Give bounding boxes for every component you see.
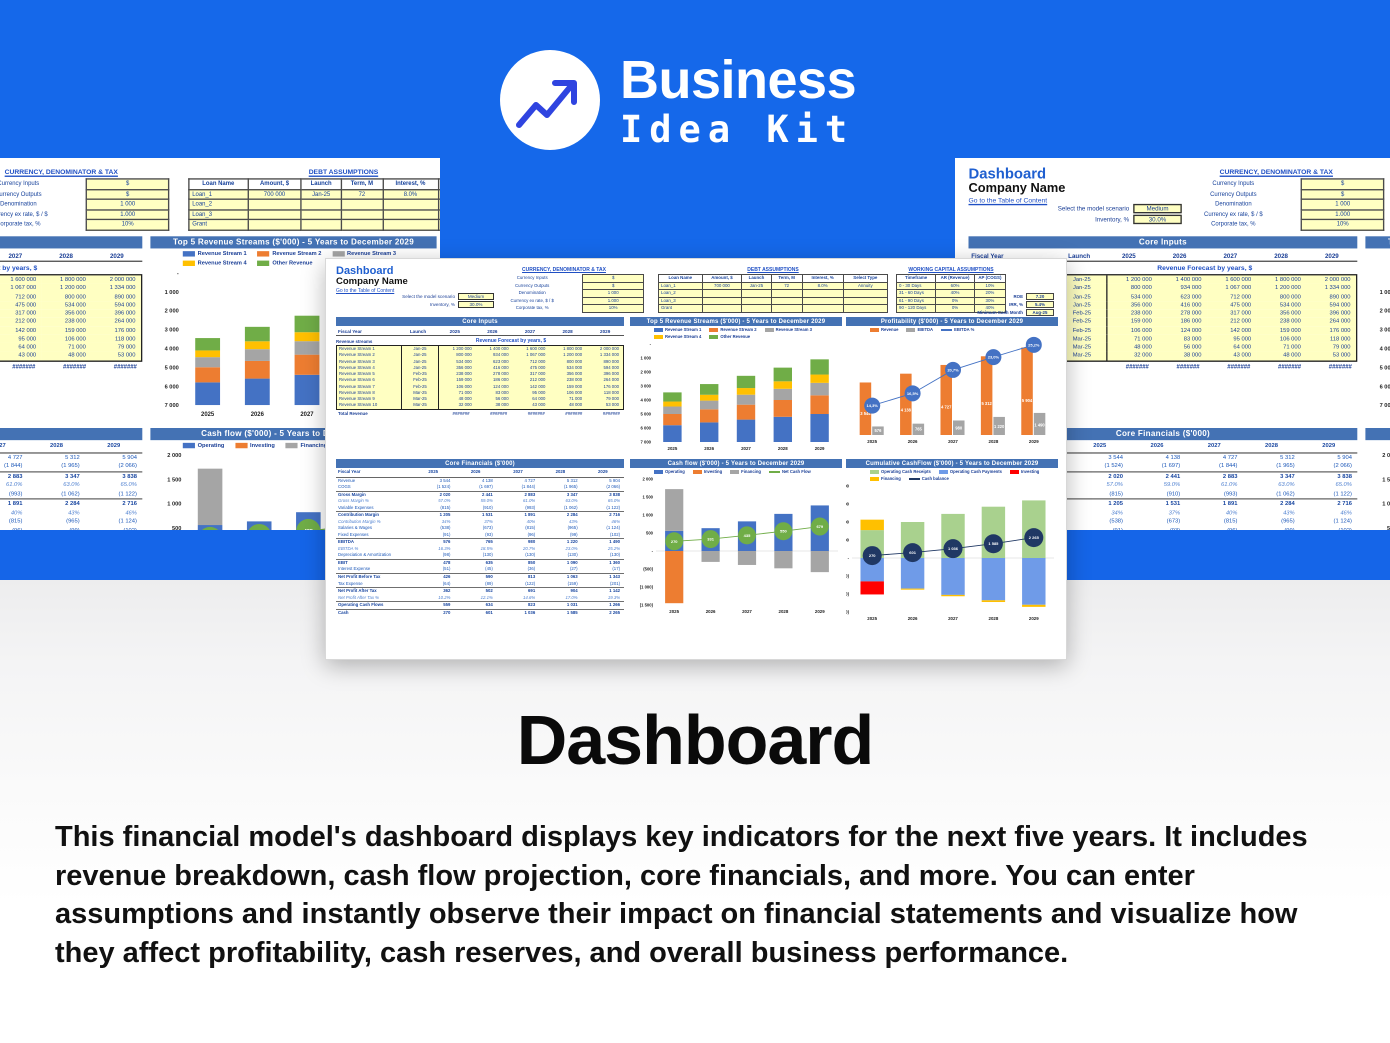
table-row[interactable]: Denomination1 000: [0, 199, 169, 209]
table-cell[interactable]: [438, 210, 440, 220]
stream-value[interactable]: 934 000: [1157, 284, 1207, 292]
stream-value[interactable]: 83 000: [1157, 335, 1207, 343]
table-row[interactable]: Revenue Stream 2Jan-25800 000934 0001 06…: [0, 284, 141, 292]
stream-launch[interactable]: Mar-25: [402, 402, 439, 408]
stream-value[interactable]: 38 000: [1157, 352, 1207, 360]
stream-value[interactable]: 1 600 000: [0, 275, 42, 283]
stream-value[interactable]: 396 000: [1306, 309, 1356, 317]
revenue-forecast-table[interactable]: Revenue Stream 1Jan-251 200 0001 400 000…: [336, 345, 624, 410]
stream-value[interactable]: 890 000: [1306, 292, 1356, 300]
stream-value[interactable]: 1 400 000: [1157, 275, 1207, 283]
svg-text:2029: 2029: [1029, 439, 1039, 444]
stream-value[interactable]: 212 000: [0, 318, 42, 326]
stream-value[interactable]: 1 200 000: [42, 284, 92, 292]
svg-text:7 000: 7 000: [641, 440, 652, 445]
stream-value[interactable]: 1 800 000: [1257, 275, 1307, 283]
row-label: Corporate tax, %: [1168, 220, 1301, 230]
sheet-title: Dashboard: [969, 166, 1131, 182]
stream-value[interactable]: 48 000: [1108, 343, 1158, 351]
svg-text:1 000: 1 000: [643, 513, 654, 518]
table-cell[interactable]: Jan-25: [742, 282, 771, 290]
table-cell[interactable]: Loan_3: [659, 297, 703, 305]
svg-text:3 000: 3 000: [641, 384, 652, 389]
table-cell[interactable]: [248, 220, 302, 230]
total-value: #######: [436, 411, 474, 416]
table-cell[interactable]: 10%: [974, 282, 1005, 290]
core-financials-block: Core Financials ($'000)Fiscal Year202520…: [336, 459, 624, 616]
svg-text:2 000: 2 000: [1382, 453, 1390, 459]
stream-value[interactable]: 124 000: [1157, 326, 1207, 334]
stream-value[interactable]: 1 067 000: [0, 284, 42, 292]
chart-title-top5-revenue-streams: Top 5 Revenue Streams ($'000) - 5 Years …: [1365, 236, 1390, 248]
table-cell[interactable]: Loan_1: [189, 189, 248, 199]
table-cell[interactable]: [341, 220, 383, 230]
table-row[interactable]: Currency Inputs$: [484, 275, 644, 283]
currency-denominator-tax-table[interactable]: Currency Inputs$Currency Outputs$Denomin…: [0, 178, 169, 231]
core-inputs-band: Core Inputs: [0, 236, 142, 248]
table-row[interactable]: Grant: [659, 305, 888, 313]
svg-text:331: 331: [707, 537, 714, 542]
stream-value[interactable]: 2 000 000: [91, 275, 141, 283]
table-cell[interactable]: [341, 199, 383, 209]
table-cell[interactable]: [248, 199, 302, 209]
table-header-row: TimeframeAR (Revenue)AP (COGS): [897, 275, 1006, 283]
table-cell[interactable]: Grant: [659, 305, 703, 313]
table-row[interactable]: Loan_1700 000Jan-25728.0%Annuity: [189, 189, 440, 199]
currency-denominator-tax-title: CURRENCY, DENOMINATOR & TAX: [0, 169, 169, 177]
legend-color-swatch: [654, 470, 663, 474]
stream-name[interactable]: Revenue Stream 10: [337, 402, 402, 408]
table-cell[interactable]: [843, 305, 887, 313]
table-row[interactable]: Revenue Stream 10Mar-2532 00038 00043 00…: [0, 352, 141, 360]
row-value[interactable]: 1.000: [87, 210, 169, 220]
table-cell[interactable]: [771, 290, 802, 298]
table-cell[interactable]: [301, 220, 341, 230]
table-cell[interactable]: Loan_2: [189, 199, 248, 209]
stream-value[interactable]: 32 000: [1108, 352, 1158, 360]
table-row[interactable]: Revenue Stream 1Jan-251 200 0001 400 000…: [0, 275, 141, 283]
stream-value[interactable]: 317 000: [1207, 309, 1257, 317]
row-value[interactable]: $: [1302, 189, 1384, 199]
stream-value[interactable]: 356 000: [42, 309, 92, 317]
stream-value[interactable]: 238 000: [1257, 318, 1307, 326]
table-cell[interactable]: [802, 297, 843, 305]
stream-value[interactable]: 890 000: [91, 292, 141, 300]
row-value: (2 066): [1300, 462, 1357, 471]
stream-value[interactable]: 64 000: [0, 343, 42, 351]
stream-value[interactable]: 48 000: [42, 352, 92, 360]
stream-value[interactable]: 238 000: [1108, 309, 1158, 317]
table-row: Variable Expenses(815)(910)(993)(1 062)(…: [336, 505, 624, 512]
row-value: (96): [497, 532, 539, 539]
row-value: 3 838: [85, 472, 142, 481]
column-header: Timeframe: [897, 275, 936, 283]
svg-text:1 500: 1 500: [1382, 477, 1390, 483]
stream-value[interactable]: 264 000: [91, 318, 141, 326]
svg-text:2 000: 2 000: [1380, 309, 1390, 315]
stream-value[interactable]: 475 000: [1207, 301, 1257, 309]
stream-value[interactable]: 53 000: [586, 402, 623, 408]
table-cell[interactable]: 8.0%: [802, 282, 843, 290]
svg-text:6 000: 6 000: [1380, 384, 1390, 390]
currency-denominator-tax-table[interactable]: Currency Inputs$Currency Outputs$Denomin…: [1168, 178, 1384, 231]
stream-value[interactable]: 32 000: [439, 402, 476, 408]
svg-text:5 312: 5 312: [982, 401, 993, 406]
stream-value[interactable]: 594 000: [1306, 301, 1356, 309]
chart-plot-top5-revenue-streams: -1 0002 0003 0004 0005 0006 0007 0002025…: [630, 341, 842, 453]
year-header: 2026: [1154, 253, 1205, 260]
stream-value[interactable]: 416 000: [1157, 301, 1207, 309]
column-header: Launch: [742, 275, 771, 283]
table-cell[interactable]: Loan_2: [659, 290, 703, 298]
table-row[interactable]: Currency Outputs$: [1168, 189, 1383, 199]
stream-value[interactable]: 71 000: [1257, 343, 1307, 351]
table-cell[interactable]: [802, 290, 843, 298]
core-inputs-header: Fiscal YearLaunch20252026202720282029: [336, 328, 624, 336]
table-row[interactable]: Currency Inputs$: [1168, 179, 1383, 189]
year-header: 2026: [454, 469, 496, 476]
row-value[interactable]: $: [583, 282, 644, 290]
table-header-row: Loan NameAmount, $LaunchTerm, MInterest,…: [659, 275, 888, 283]
table-cell[interactable]: 8.0%: [383, 189, 438, 199]
table-row[interactable]: Revenue Stream 7Feb-25106 000124 000142 …: [0, 326, 141, 334]
stream-value[interactable]: 1 200 000: [1257, 284, 1307, 292]
row-value: (1 122): [1300, 490, 1357, 499]
row-value[interactable]: $: [1302, 179, 1384, 189]
chart-title-cash-flow: Cash flow ($'000) - 5 Years to December …: [1365, 428, 1390, 440]
total-value: #######: [586, 411, 624, 416]
debt-assumptions-table[interactable]: Loan NameAmount, $LaunchTerm, MInterest,…: [188, 178, 440, 231]
table-row[interactable]: Grant: [189, 220, 440, 230]
stream-value[interactable]: 1 600 000: [1207, 275, 1257, 283]
year-header: 2029: [1307, 253, 1358, 260]
company-name: Company Name: [969, 181, 1131, 196]
row-value: 4 727: [1186, 453, 1243, 462]
stream-value[interactable]: 95 000: [0, 335, 42, 343]
table-cell[interactable]: [742, 305, 771, 313]
stream-value[interactable]: 1 200 000: [1108, 275, 1158, 283]
stream-value[interactable]: 56 000: [1157, 343, 1207, 351]
chart-canvas-top5-revenue-streams: -1 0002 0003 0004 0005 0006 0007 0002025…: [1365, 269, 1390, 427]
row-value[interactable]: 10%: [583, 305, 644, 313]
stream-value[interactable]: 534 000: [42, 301, 92, 309]
table-row[interactable]: Corporate tax, %10%: [0, 220, 169, 230]
column-header: Term, M: [341, 179, 383, 189]
row-value[interactable]: 1 000: [1302, 199, 1384, 209]
stream-value[interactable]: 356 000: [1108, 301, 1158, 309]
row-value: (17): [582, 566, 624, 573]
row-value: (910): [1128, 490, 1185, 499]
stream-value[interactable]: 475 000: [0, 301, 42, 309]
scenario-row-label: Select the model scenario: [1058, 205, 1129, 212]
debt-assumptions: DEBT ASSUMPTIONSLoan NameAmount, $Launch…: [188, 169, 440, 231]
total-value: #######: [1307, 363, 1358, 370]
stream-value[interactable]: 1 334 000: [1306, 284, 1356, 292]
row-value[interactable]: 1.000: [1302, 210, 1384, 220]
table-cell[interactable]: 0 - 30 Days: [897, 282, 936, 290]
currency-denominator-tax-table[interactable]: Currency Inputs$Currency Outputs$Denomin…: [484, 274, 644, 313]
table-cell[interactable]: [771, 305, 802, 313]
row-value: 559: [412, 602, 454, 609]
stream-value[interactable]: 800 000: [42, 292, 92, 300]
stream-value[interactable]: 71 000: [1108, 335, 1158, 343]
stream-value[interactable]: 142 000: [0, 326, 42, 334]
legend-label: Revenue Stream 1: [665, 327, 701, 332]
svg-text:601: 601: [909, 550, 916, 555]
table-cell[interactable]: [742, 290, 771, 298]
legend-item: Other Revenue: [257, 259, 312, 266]
legend-label: Investing: [250, 442, 275, 449]
stream-value[interactable]: 48 000: [549, 402, 586, 408]
legend-label: Financing: [741, 469, 761, 474]
stream-value[interactable]: 43 000: [0, 352, 42, 360]
kpi-label: ROE: [1013, 294, 1023, 299]
row-value: 5 312: [28, 453, 85, 462]
table-cell[interactable]: [438, 199, 440, 209]
table-cell[interactable]: Loan_1: [659, 282, 703, 290]
table-row[interactable]: Corporate tax, %10%: [484, 305, 644, 313]
table-row[interactable]: 0 - 30 Days60%10%: [897, 282, 1006, 290]
table-cell[interactable]: [301, 199, 341, 209]
table-row[interactable]: Revenue Stream 5Feb-25238 000278 000317 …: [0, 309, 141, 317]
table-cell[interactable]: [301, 210, 341, 220]
table-cell[interactable]: 72: [341, 189, 383, 199]
chart-panel-cumulative-cashflow: Cumulative CashFlow ($'000) - 5 Years to…: [846, 459, 1058, 628]
legend-label: Net Cash Flow: [782, 469, 811, 474]
stream-value[interactable]: 159 000: [1108, 318, 1158, 326]
total-value: #######: [1205, 363, 1256, 370]
table-header-row: Loan NameAmount, $LaunchTerm, MInterest,…: [189, 179, 440, 189]
stream-value[interactable]: 142 000: [1207, 326, 1257, 334]
row-value: 17.0%: [539, 595, 581, 602]
table-cell[interactable]: [383, 210, 438, 220]
table-row[interactable]: Denomination1 000: [1168, 199, 1383, 209]
row-value[interactable]: 1 000: [87, 199, 169, 209]
table-cell[interactable]: [802, 305, 843, 313]
row-value: 65.0%: [1300, 481, 1357, 490]
stream-value[interactable]: 238 000: [42, 318, 92, 326]
table-row[interactable]: Loan_3: [189, 210, 440, 220]
table-row[interactable]: Currency ex rate, $ / $1.000: [484, 297, 644, 305]
row-value[interactable]: $: [87, 189, 169, 199]
legend-item: Net Cash Flow: [769, 469, 811, 474]
chart-panel-profitability: Profitability ($'000) - 5 Years to Decem…: [846, 317, 1058, 451]
row-value: (96): [1186, 526, 1243, 530]
table-row[interactable]: Revenue Stream 9Mar-2548 00056 00064 000…: [0, 343, 141, 351]
svg-text:2027: 2027: [948, 439, 958, 444]
row-value[interactable]: 10%: [87, 220, 169, 230]
column-header: Interest, %: [383, 179, 438, 189]
table-cell[interactable]: [438, 220, 440, 230]
table-row: Gross Margin %57.0%59.0%61.0%63.0%65.0%: [0, 481, 142, 490]
row-value: (993): [497, 505, 539, 512]
table-cell[interactable]: Annuity: [438, 189, 440, 199]
stream-value[interactable]: 317 000: [0, 309, 42, 317]
stream-value[interactable]: 712 000: [1207, 292, 1257, 300]
svg-text:2025: 2025: [669, 609, 679, 614]
table-cell[interactable]: 72: [771, 282, 802, 290]
stream-value[interactable]: 800 000: [1257, 292, 1307, 300]
table-row[interactable]: Loan_1700 000Jan-25728.0%Annuity: [659, 282, 888, 290]
stream-value[interactable]: 2 000 000: [1306, 275, 1356, 283]
table-cell[interactable]: [742, 297, 771, 305]
currency-denominator-tax: CURRENCY, DENOMINATOR & TAXCurrency Inpu…: [484, 267, 644, 313]
stream-value[interactable]: 1 800 000: [42, 275, 92, 283]
stream-value[interactable]: 106 000: [1108, 326, 1158, 334]
column-header: AR (Revenue): [936, 275, 975, 283]
row-value: 601: [454, 610, 496, 617]
svg-text:2025: 2025: [867, 439, 877, 444]
table-cell[interactable]: Annuity: [843, 282, 887, 290]
row-value[interactable]: 1 000: [583, 290, 644, 298]
table-row[interactable]: Revenue Stream 3Jan-25534 000623 000712 …: [0, 292, 141, 300]
svg-text:2 265: 2 265: [1029, 535, 1040, 540]
table-row[interactable]: Currency Outputs$: [0, 189, 169, 199]
stream-value[interactable]: 278 000: [1157, 309, 1207, 317]
stream-value[interactable]: 53 000: [91, 352, 141, 360]
revenue-forecast-table[interactable]: Revenue Stream 1Jan-251 200 0001 400 000…: [0, 274, 142, 361]
row-value: (99): [539, 532, 581, 539]
table-cell[interactable]: [702, 297, 742, 305]
stream-value[interactable]: 64 000: [1207, 343, 1257, 351]
forecast-title: Revenue Forecast by years, $: [1052, 265, 1357, 273]
table-row[interactable]: Revenue Stream 10Mar-2532 00038 00043 00…: [337, 402, 623, 408]
table-row[interactable]: Corporate tax, %10%: [1168, 220, 1383, 230]
stream-value[interactable]: 48 000: [1257, 352, 1307, 360]
stream-value[interactable]: 118 000: [1306, 335, 1356, 343]
stream-value[interactable]: 800 000: [1108, 284, 1158, 292]
stream-value[interactable]: 1 067 000: [1207, 284, 1257, 292]
table-cell[interactable]: [843, 290, 887, 298]
svg-text:4 000: 4 000: [641, 398, 652, 403]
table-row[interactable]: Loan_2: [189, 199, 440, 209]
stream-value[interactable]: 43 000: [513, 402, 550, 408]
table-row[interactable]: Revenue Stream 6Feb-25159 000186 000212 …: [0, 318, 141, 326]
forecast-title: Revenue Forecast by years, $: [0, 265, 142, 273]
chart-plot-cumulative-cashflow: 8 0006 0004 0002 000-(2 000)(4 000)(6 00…: [846, 483, 1058, 623]
total-value: #######: [474, 411, 512, 416]
table-row[interactable]: Loan_2: [659, 290, 888, 298]
table-cell[interactable]: Jan-25: [301, 189, 341, 199]
stream-value[interactable]: 534 000: [1257, 301, 1307, 309]
stream-value[interactable]: 534 000: [1108, 292, 1158, 300]
table-cell[interactable]: [383, 220, 438, 230]
stream-value[interactable]: 79 000: [1306, 343, 1356, 351]
core-inputs-block: Core InputsFiscal YearLaunch202520262027…: [0, 236, 142, 369]
row-label: Depreciation & Amortization: [336, 552, 412, 559]
stream-value[interactable]: 212 000: [1207, 318, 1257, 326]
stream-value[interactable]: 95 000: [1207, 335, 1257, 343]
chart-plot-top5-revenue-streams: -1 0002 0003 0004 0005 0006 0007 0002025…: [1365, 269, 1390, 420]
row-value: 12.1%: [454, 595, 496, 602]
row-label: Denomination: [0, 199, 87, 209]
stream-value[interactable]: 186 000: [1157, 318, 1207, 326]
stream-value[interactable]: 159 000: [42, 326, 92, 334]
svg-text:435: 435: [304, 529, 313, 530]
stream-value[interactable]: 118 000: [91, 335, 141, 343]
stream-value[interactable]: 594 000: [91, 301, 141, 309]
sheet-header: DashboardCompany NameGo to the Table of …: [969, 166, 1390, 228]
dashboard-screenshot-main[interactable]: DashboardCompany NameGo to the Table of …: [325, 258, 1067, 660]
stream-value[interactable]: 176 000: [91, 326, 141, 334]
stream-value[interactable]: 43 000: [1207, 352, 1257, 360]
row-value: 1 031: [539, 602, 581, 609]
table-cell[interactable]: [843, 297, 887, 305]
chart-legend-profitability: RevenueEBITDAEBITDA %: [846, 326, 1058, 333]
chart-legend-cash-flow: OperatingInvestingFinancingNet Cash Flow: [1365, 440, 1390, 449]
stream-value[interactable]: 356 000: [1257, 309, 1307, 317]
legend-item: Operating: [183, 442, 225, 449]
column-header: Loan Name: [659, 275, 703, 283]
stream-value[interactable]: 1 334 000: [91, 284, 141, 292]
svg-text:20,7%: 20,7%: [947, 367, 959, 372]
table-cell[interactable]: 60%: [936, 282, 975, 290]
stream-value[interactable]: 106 000: [1257, 335, 1307, 343]
stream-value[interactable]: 396 000: [91, 309, 141, 317]
stream-value[interactable]: 623 000: [1157, 292, 1207, 300]
row-value: 34%: [1071, 509, 1128, 518]
table-cell[interactable]: Loan_3: [189, 210, 248, 220]
stream-value[interactable]: 71 000: [42, 343, 92, 351]
stream-value[interactable]: 176 000: [1306, 326, 1356, 334]
table-row[interactable]: Currency ex rate, $ / $1.000: [0, 210, 169, 220]
row-value[interactable]: 1.000: [583, 297, 644, 305]
column-header: Term, M: [771, 275, 802, 283]
legend-item: Revenue Stream 2: [709, 327, 756, 332]
year-header: 2028: [1243, 442, 1300, 451]
stream-value[interactable]: 712 000: [0, 292, 42, 300]
table-row[interactable]: Currency ex rate, $ / $1.000: [1168, 210, 1383, 220]
table-row[interactable]: Revenue Stream 8Mar-2571 00083 00095 000…: [0, 335, 141, 343]
debt-assumptions-table[interactable]: Loan NameAmount, $LaunchTerm, MInterest,…: [658, 274, 888, 313]
table-cell[interactable]: 700 000: [248, 189, 302, 199]
currency-denominator-tax-title: CURRENCY, DENOMINATOR & TAX: [484, 267, 644, 273]
table-row[interactable]: Revenue Stream 4Jan-25356 000416 000475 …: [0, 301, 141, 309]
stream-value[interactable]: 79 000: [91, 343, 141, 351]
stream-value[interactable]: 106 000: [42, 335, 92, 343]
row-value: 2 441: [1128, 472, 1185, 481]
svg-text:2025: 2025: [201, 412, 215, 418]
table-cell[interactable]: [248, 210, 302, 220]
table-cell[interactable]: [702, 305, 742, 313]
stream-value[interactable]: 264 000: [1306, 318, 1356, 326]
row-value: (130): [454, 552, 496, 559]
table-cell[interactable]: [702, 290, 742, 298]
row-label: Currency Outputs: [1168, 189, 1301, 199]
row-value[interactable]: $: [583, 275, 644, 283]
chart-canvas-cash-flow: 2 0001 5001 000500-(500)(1 000)(1 500)20…: [630, 476, 842, 621]
table-cell[interactable]: [771, 297, 802, 305]
table-row[interactable]: Currency Inputs$: [0, 179, 169, 189]
row-value[interactable]: 10%: [1302, 220, 1384, 230]
table-cell[interactable]: [383, 199, 438, 209]
legend-color-swatch: [870, 477, 879, 481]
svg-text:1 585: 1 585: [988, 541, 999, 546]
stream-value[interactable]: 159 000: [1257, 326, 1307, 334]
table-cell[interactable]: Grant: [189, 220, 248, 230]
table-row[interactable]: Currency Outputs$: [484, 282, 644, 290]
table-cell[interactable]: 700 000: [702, 282, 742, 290]
row-value[interactable]: $: [87, 179, 169, 189]
svg-text:1 000: 1 000: [641, 356, 652, 361]
table-cell[interactable]: [341, 210, 383, 220]
legend-item: Financing: [730, 469, 761, 474]
stream-value[interactable]: 38 000: [476, 402, 513, 408]
stream-value[interactable]: 53 000: [1306, 352, 1356, 360]
table-row[interactable]: Loan_3: [659, 297, 888, 305]
table-row[interactable]: Denomination1 000: [484, 290, 644, 298]
row-value: 61.0%: [0, 481, 28, 490]
